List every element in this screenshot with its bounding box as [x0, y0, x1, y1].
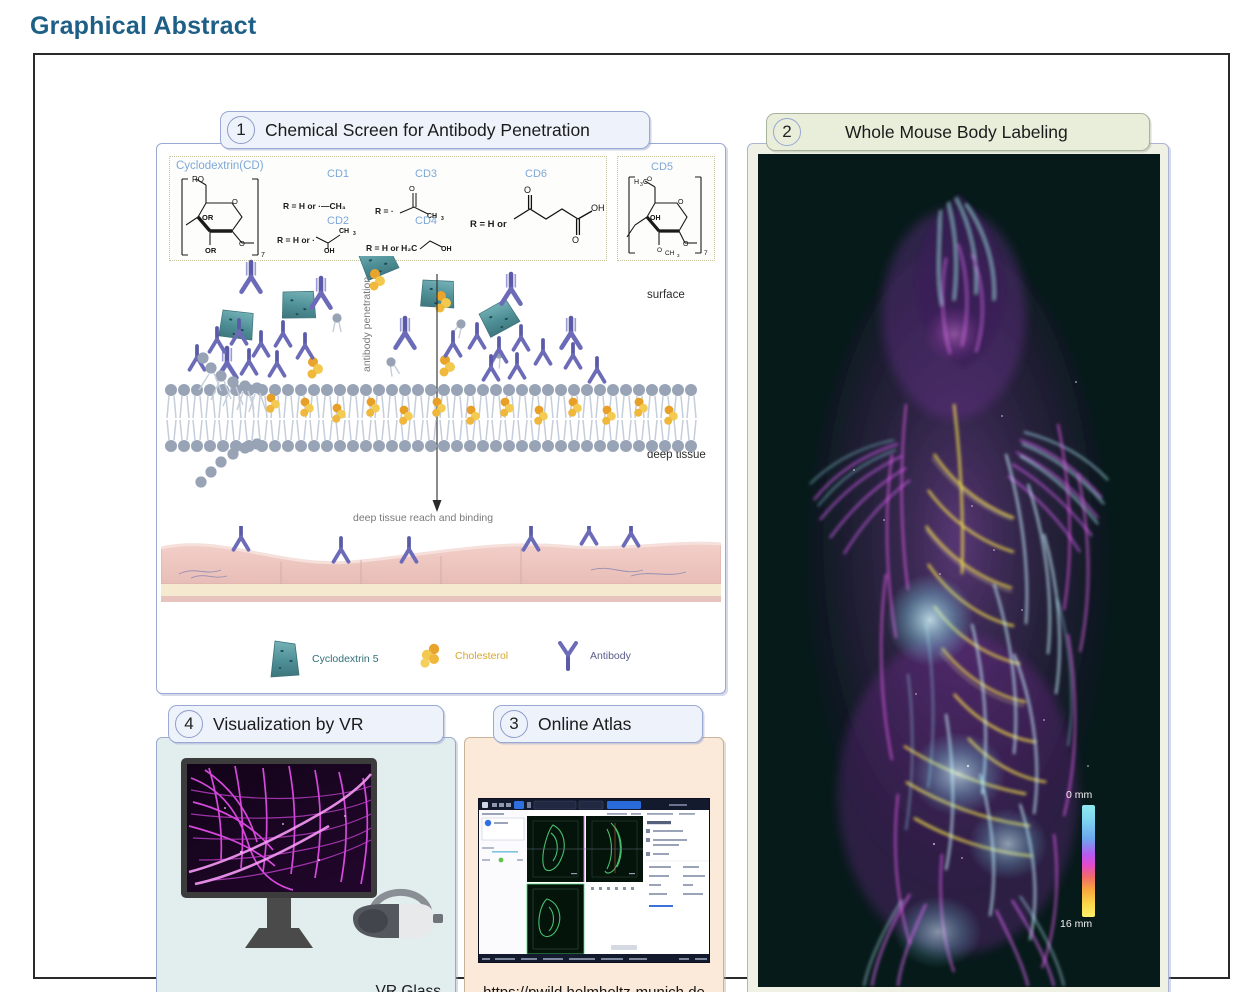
panel-1-number: 1 — [227, 116, 255, 144]
whole-mouse-body-image: 0 mm 16 mm — [758, 154, 1160, 987]
cd3-formula: R = · — [375, 206, 394, 216]
panel-3-number: 3 — [500, 710, 528, 738]
lipid-bilayer-diagram — [161, 314, 721, 494]
svg-text:O: O — [678, 199, 684, 206]
cd6-structure: O O OH — [508, 181, 608, 251]
cd5-structure: H 3 C O O OH O O CH 3 7 — [621, 173, 713, 259]
cd2-structure: CH 3 OH — [312, 223, 374, 253]
cd1-formula: R = H or ·—CH₃ — [283, 201, 346, 211]
colorbar-top-label: 0 mm — [1066, 789, 1092, 801]
cyclodextrin-formula-box: Cyclodextrin(CD) — [169, 156, 607, 261]
tissue-slab-diagram — [161, 526, 721, 606]
abstract-frame: 1 Chemical Screen for Antibody Penetrati… — [33, 53, 1230, 979]
cd4-label: CD4 — [415, 215, 437, 227]
svg-text:O: O — [657, 247, 662, 254]
cyclodextrin-ring-structure: RO O OR OR O 7 — [176, 173, 276, 261]
panel-2-number: 2 — [773, 118, 801, 146]
atlas-viewer-mockup — [479, 799, 710, 963]
cyclodextrin-icon — [269, 639, 303, 679]
cd5-label: CD5 — [651, 161, 673, 173]
panel-2-body: 0 mm 16 mm — [747, 143, 1169, 992]
svg-text:O: O — [572, 235, 579, 245]
svg-text:O: O — [524, 185, 531, 195]
panel-2-header: 2 Whole Mouse Body Labeling — [766, 113, 1150, 151]
atlas-url-text: https://pwild.helmholtz-munich.de — [465, 984, 723, 992]
panel-4-header: 4 Visualization by VR — [168, 705, 444, 743]
panel-1-header: 1 Chemical Screen for Antibody Penetrati… — [220, 111, 650, 149]
colorbar-bottom-label: 16 mm — [1060, 918, 1092, 930]
panel-3-title: Online Atlas — [538, 714, 631, 735]
svg-text:OR: OR — [202, 213, 214, 222]
panel-4-number: 4 — [175, 710, 203, 738]
cholesterol-icon — [418, 643, 446, 669]
svg-text:RO: RO — [192, 175, 204, 184]
svg-text:3: 3 — [353, 231, 356, 237]
cd4-formula: R = H or H₂C — [366, 243, 417, 253]
surface-label: surface — [647, 289, 685, 301]
graphical-abstract-page: Graphical Abstract 1 Chemical Screen for… — [0, 0, 1243, 992]
legend-item-cyclodextrin: Cyclodextrin 5 — [269, 639, 379, 679]
panel-2-title: Whole Mouse Body Labeling — [845, 122, 1068, 143]
page-title: Graphical Abstract — [30, 12, 256, 41]
legend-label-cyclodextrin: Cyclodextrin 5 — [312, 653, 379, 665]
svg-text:O: O — [239, 239, 245, 248]
antibody-icon — [555, 641, 581, 671]
svg-text:H: H — [634, 179, 639, 186]
svg-text:OH: OH — [324, 248, 335, 253]
panel-3-header: 3 Online Atlas — [493, 705, 703, 743]
svg-text:3: 3 — [441, 216, 444, 222]
online-atlas-screenshot — [478, 798, 710, 963]
svg-text:O: O — [409, 184, 415, 193]
svg-text:OH: OH — [591, 203, 605, 213]
svg-text:OH: OH — [441, 246, 452, 253]
cd1-label: CD1 — [327, 168, 349, 180]
depth-colorbar: 0 mm 16 mm — [1058, 787, 1136, 935]
svg-text:O: O — [647, 176, 652, 183]
svg-text:O: O — [683, 241, 689, 248]
svg-text:CH: CH — [339, 228, 349, 235]
cd2-formula: R = H or · — [277, 235, 315, 245]
panel-4-body: VR Glass — [156, 737, 456, 992]
deep-tissue-reach-label: deep tissue reach and binding — [353, 512, 493, 524]
panel-1-body: Cyclodextrin(CD) — [156, 143, 726, 694]
svg-text:O: O — [232, 197, 238, 206]
vr-headset-icon — [349, 872, 445, 958]
svg-text:OR: OR — [205, 246, 217, 255]
panel-4-title: Visualization by VR — [213, 714, 363, 735]
legend-label-antibody: Antibody — [590, 650, 631, 662]
legend-item-cholesterol: Cholesterol — [418, 643, 508, 669]
vr-glass-caption: VR Glass — [376, 983, 441, 992]
panel-1-title: Chemical Screen for Antibody Penetration — [265, 120, 590, 141]
cd6-label: CD6 — [525, 168, 547, 180]
cd5-formula-box: CD5 — [617, 156, 715, 261]
panel-3-body: https://pwild.helmholtz-munich.de — [464, 737, 724, 992]
legend-label-cholesterol: Cholesterol — [455, 650, 508, 662]
panel-1-legend: Cyclodextrin 5 Cholesterol — [175, 633, 715, 681]
svg-text:OH: OH — [650, 215, 661, 222]
colorbar-gradient — [1082, 805, 1095, 917]
legend-item-antibody: Antibody — [555, 641, 631, 671]
cd6-formula: R = H or — [470, 219, 507, 230]
cd4-structure: OH — [418, 235, 466, 257]
cyclodextrin-group-title: Cyclodextrin(CD) — [176, 160, 264, 172]
